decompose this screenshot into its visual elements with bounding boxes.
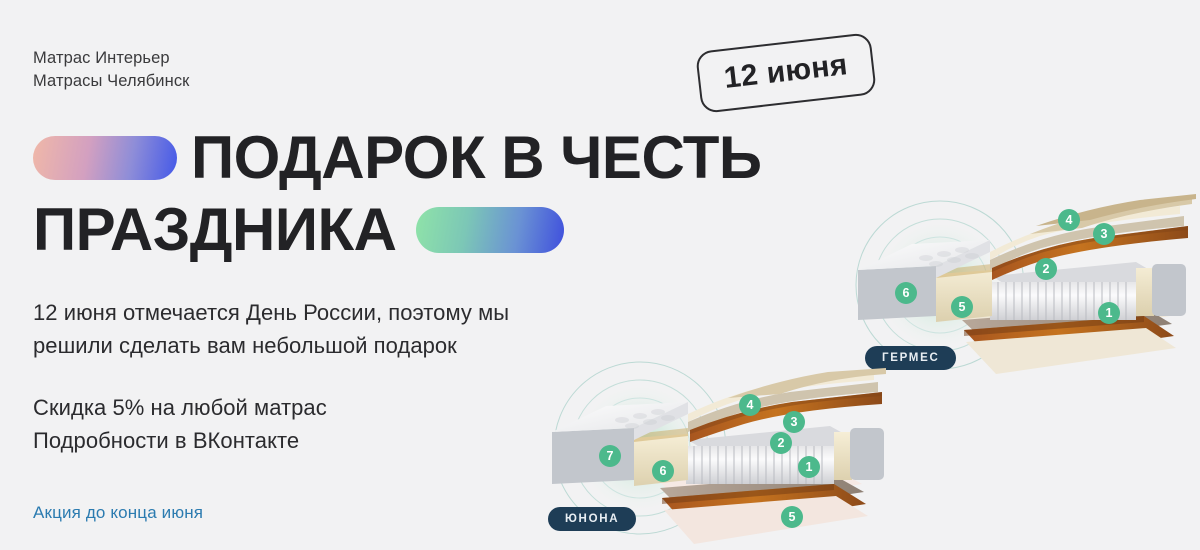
layer-badge-1: 1 <box>1098 302 1120 324</box>
product-name-unona: ЮНОНА <box>565 513 619 525</box>
layer-badge-6: 6 <box>652 460 674 482</box>
product-name-tag-hermes: ГЕРМЕС <box>865 346 956 370</box>
layer-badge-5: 5 <box>781 506 803 528</box>
headline-line-2: ПРАЗДНИКА <box>33 200 396 260</box>
layer-badge-4: 4 <box>739 394 761 416</box>
decorative-pill-pink <box>33 136 177 180</box>
product-name-hermes: ГЕРМЕС <box>882 352 939 364</box>
body-copy-line-2: решили сделать вам небольшой подарок <box>33 329 509 362</box>
headline: ПОДАРОК В ЧЕСТЬ ПРАЗДНИКА <box>33 122 863 266</box>
headline-row-2: ПРАЗДНИКА <box>33 194 863 266</box>
layer-badge-5: 5 <box>951 296 973 318</box>
offer-copy-line-2: Подробности в ВКонтакте <box>33 424 327 457</box>
body-copy: 12 июня отмечается День России, поэтому … <box>33 296 509 362</box>
layer-badge-7: 7 <box>599 445 621 467</box>
layer-badge-2: 2 <box>770 432 792 454</box>
product-name-tag-unona: ЮНОНА <box>548 507 636 531</box>
promo-period-link[interactable]: Акция до конца июня <box>33 503 203 523</box>
layer-badge-3: 3 <box>1093 223 1115 245</box>
layer-badge-6: 6 <box>895 282 917 304</box>
date-badge: 12 июня <box>695 32 877 114</box>
layer-badge-4: 4 <box>1058 209 1080 231</box>
layer-badge-3: 3 <box>783 411 805 433</box>
brand-name: Матрас Интерьер Матрасы Челябинск <box>33 47 189 93</box>
layer-badge-2: 2 <box>1035 258 1057 280</box>
layer-badge-1: 1 <box>798 456 820 478</box>
date-badge-label: 12 июня <box>722 48 849 96</box>
brand-line-2: Матрасы Челябинск <box>33 70 189 93</box>
promo-banner: Матрас Интерьер Матрасы Челябинск 12 июн… <box>0 0 1200 550</box>
headline-row-1: ПОДАРОК В ЧЕСТЬ <box>33 122 863 194</box>
offer-copy: Скидка 5% на любой матрас Подробности в … <box>33 391 327 457</box>
brand-line-1: Матрас Интерьер <box>33 47 189 70</box>
offer-copy-line-1: Скидка 5% на любой матрас <box>33 391 327 424</box>
body-copy-line-1: 12 июня отмечается День России, поэтому … <box>33 296 509 329</box>
decorative-pill-green <box>416 207 564 253</box>
spring-block-hermes <box>990 262 1186 320</box>
headline-line-1: ПОДАРОК В ЧЕСТЬ <box>191 128 762 188</box>
